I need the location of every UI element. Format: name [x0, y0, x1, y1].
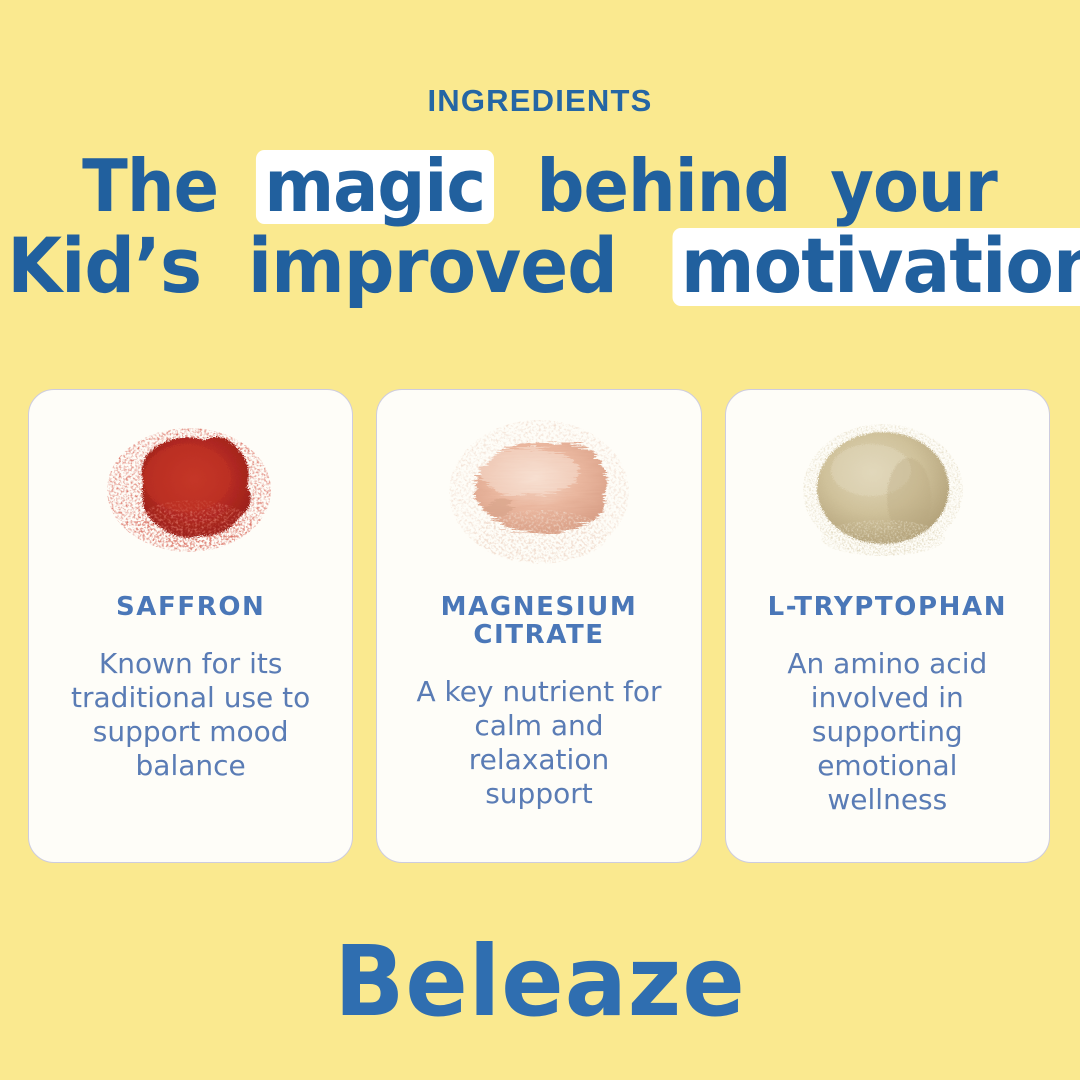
- magnesium-citrate-powder-image: [429, 412, 649, 587]
- headline-word: your: [830, 153, 997, 219]
- ingredient-description: An amino acid involved in supporting emo…: [762, 647, 1012, 816]
- ingredient-title: MAGNESIUM CITRATE: [391, 593, 686, 649]
- ingredients-promo-page: INGREDIENTS The magic behind your Kid’s …: [0, 0, 1080, 1080]
- headline-word: behind: [536, 153, 790, 219]
- headline-word: Kid’s: [7, 231, 201, 301]
- headline-highlight-word: motivation: [673, 228, 1080, 306]
- brand-name: Beleaze: [334, 925, 745, 1038]
- ingredient-card[interactable]: MAGNESIUM CITRATE A key nutrient for cal…: [376, 389, 701, 863]
- ingredient-description: A key nutrient for calm and relaxation s…: [414, 675, 664, 811]
- saffron-powder-image: [81, 412, 301, 587]
- headline-highlight-word: magic: [256, 150, 494, 224]
- page-headline: The magic behind your Kid’s improved mot…: [0, 150, 1080, 306]
- ingredient-card[interactable]: SAFFRON Known for its traditional use to…: [28, 389, 353, 863]
- headline-line-1: The magic behind your: [0, 150, 1080, 224]
- ingredient-title: SAFFRON: [116, 593, 265, 621]
- ingredient-card[interactable]: L-TRYPTOPHAN An amino acid involved in s…: [725, 389, 1050, 863]
- ingredient-description: Known for its traditional use to support…: [66, 647, 316, 783]
- section-eyebrow-label: INGREDIENTS: [0, 83, 1080, 119]
- brand-wordmark: Beleaze: [0, 928, 1080, 1035]
- ingredient-card-list: SAFFRON Known for its traditional use to…: [28, 389, 1050, 863]
- ingredient-title: L-TRYPTOPHAN: [768, 593, 1008, 621]
- headline-word: The: [82, 153, 218, 219]
- l-tryptophan-powder-image: [777, 412, 997, 587]
- headline-word: improved: [248, 231, 617, 301]
- headline-line-2: Kid’s improved motivation: [0, 228, 1080, 306]
